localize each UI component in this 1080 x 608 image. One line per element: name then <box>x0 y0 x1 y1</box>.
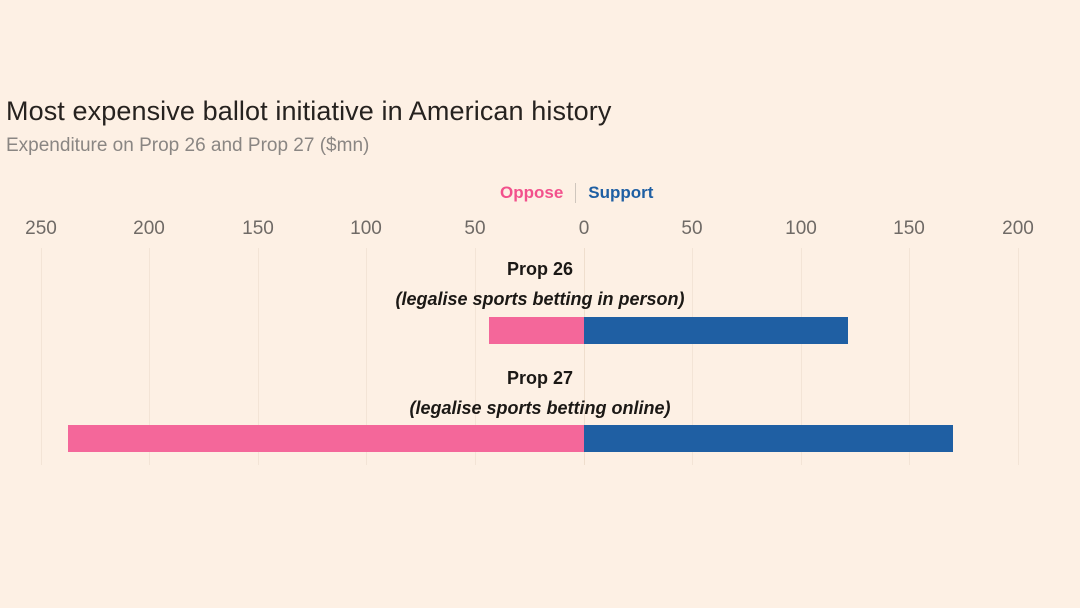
x-tick-label-5: 0 <box>579 218 590 240</box>
group-sublabel-1: (legalise sports betting online) <box>0 398 1080 419</box>
bar-support-0 <box>584 317 848 344</box>
x-tick-label-6: 50 <box>681 218 702 240</box>
group-sublabel-0: (legalise sports betting in person) <box>0 289 1080 310</box>
x-tick-label-9: 200 <box>1002 218 1034 240</box>
x-tick-label-1: 200 <box>133 218 165 240</box>
bar-support-1 <box>584 425 953 452</box>
bar-oppose-0 <box>489 317 584 344</box>
chart-page: Most expensive ballot initiative in Amer… <box>0 0 1080 608</box>
group-label-1: Prop 27 <box>0 368 1080 389</box>
x-tick-label-2: 150 <box>242 218 274 240</box>
plot-area: 25020015010050050100150200 Prop 26(legal… <box>0 0 1080 608</box>
x-tick-label-3: 100 <box>350 218 382 240</box>
x-tick-label-4: 50 <box>464 218 485 240</box>
gridline-9 <box>1018 248 1019 465</box>
group-label-0: Prop 26 <box>0 259 1080 280</box>
x-tick-label-8: 150 <box>893 218 925 240</box>
x-tick-label-7: 100 <box>785 218 817 240</box>
x-tick-label-0: 250 <box>25 218 57 240</box>
gridline-0 <box>41 248 42 465</box>
bar-oppose-1 <box>68 425 584 452</box>
